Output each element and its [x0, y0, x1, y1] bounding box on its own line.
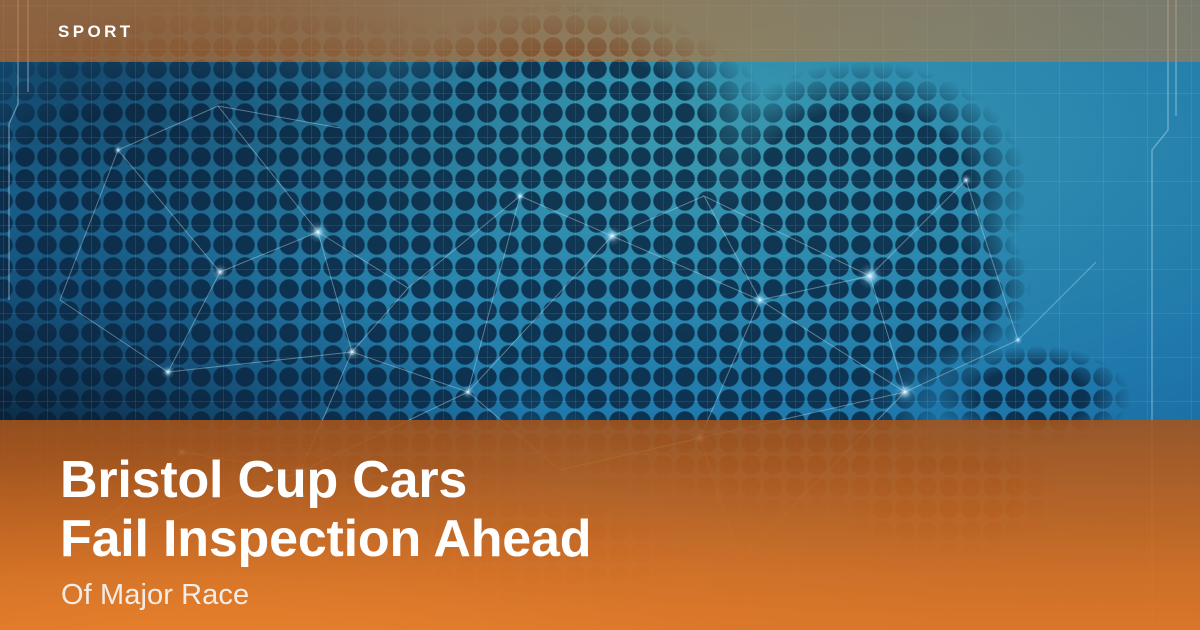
headline-line-1: Bristol Cup Cars [60, 451, 800, 510]
subheadline: Of Major Race [61, 578, 249, 612]
headline: Bristol Cup Cars Fail Inspection Ahead [60, 451, 800, 569]
headline-line-2: Fail Inspection Ahead [60, 510, 800, 569]
category-label: SPORT [58, 22, 134, 42]
category-bar [0, 0, 1200, 62]
social-share-card: SPORT Bristol Cup Cars Fail Inspection A… [0, 0, 1200, 630]
